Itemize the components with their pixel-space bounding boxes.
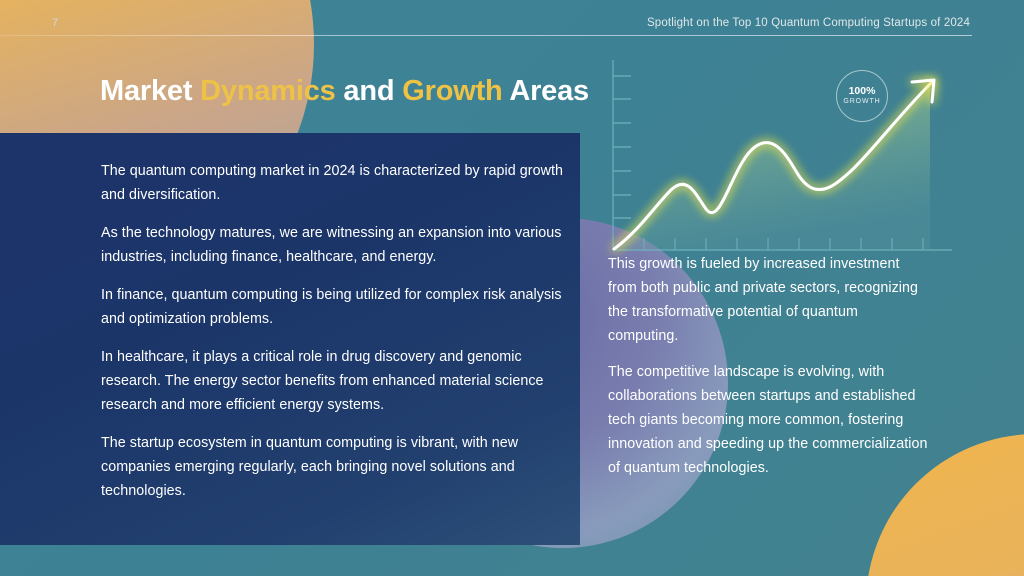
paragraph: In finance, quantum computing is being u… bbox=[101, 283, 571, 331]
paragraph: The competitive landscape is evolving, w… bbox=[608, 360, 928, 480]
title-part-and: and bbox=[336, 75, 403, 107]
growth-area-chart bbox=[600, 52, 1000, 264]
paragraph: As the technology matures, we are witnes… bbox=[101, 221, 571, 269]
header-title: Spotlight on the Top 10 Quantum Computin… bbox=[647, 17, 970, 29]
title-part-market: Market bbox=[100, 75, 200, 107]
slide: 7 Spotlight on the Top 10 Quantum Comput… bbox=[0, 0, 1024, 576]
header-divider bbox=[0, 35, 972, 36]
paragraph: This growth is fueled by increased inves… bbox=[608, 252, 928, 348]
page-title: Market Dynamics and Growth Areas bbox=[100, 75, 589, 108]
paragraph: The startup ecosystem in quantum computi… bbox=[101, 431, 571, 503]
badge-label: GROWTH bbox=[843, 97, 880, 107]
left-text-column: The quantum computing market in 2024 is … bbox=[101, 159, 571, 517]
title-part-areas: Areas bbox=[503, 75, 589, 107]
title-part-dynamics: Dynamics bbox=[200, 75, 335, 107]
paragraph: The quantum computing market in 2024 is … bbox=[101, 159, 571, 207]
slide-header: 7 Spotlight on the Top 10 Quantum Comput… bbox=[0, 0, 1024, 44]
title-part-growth: Growth bbox=[402, 75, 502, 107]
paragraph: In healthcare, it plays a critical role … bbox=[101, 345, 571, 417]
badge-value: 100% bbox=[849, 85, 876, 97]
growth-badge: 100% GROWTH bbox=[836, 70, 888, 122]
page-number: 7 bbox=[52, 17, 59, 29]
right-text-column: This growth is fueled by increased inves… bbox=[608, 252, 928, 492]
